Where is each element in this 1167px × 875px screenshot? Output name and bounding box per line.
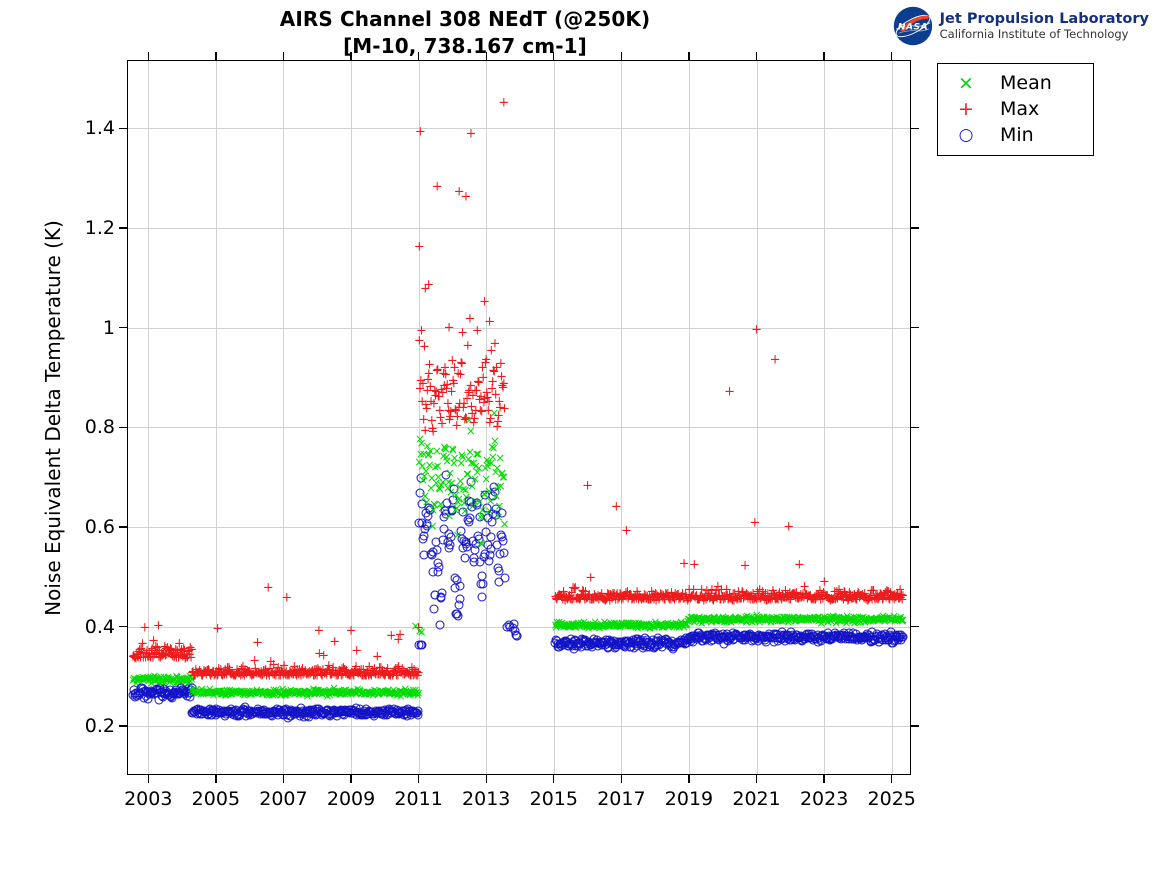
data-point-max: + [862, 594, 873, 607]
data-point-mean: × [344, 687, 354, 699]
data-point-mean: × [607, 618, 617, 630]
data-point-mean: × [171, 677, 181, 689]
data-point-mean: × [469, 495, 479, 507]
data-point-max: + [314, 647, 325, 660]
data-point-max: + [466, 401, 477, 414]
data-point-mean: × [750, 615, 760, 627]
data-point-max: + [651, 588, 662, 601]
data-point-max: + [862, 592, 873, 605]
data-point-min [643, 635, 652, 644]
data-point-min [185, 689, 194, 698]
data-point-max: + [607, 592, 618, 605]
data-point-max: + [344, 670, 355, 683]
data-point-min [466, 477, 475, 486]
data-point-max: + [307, 665, 318, 678]
data-point-min [886, 632, 895, 641]
data-point-min [814, 637, 823, 646]
data-point-max: + [792, 591, 803, 604]
data-point-mean: × [217, 685, 227, 697]
data-point-max: + [465, 313, 476, 326]
data-point-mean: × [749, 614, 759, 626]
data-point-max: + [258, 664, 269, 677]
data-point-mean: × [596, 618, 606, 630]
data-point-mean: × [564, 619, 574, 631]
data-point-mean: × [639, 619, 649, 631]
data-point-min [503, 623, 512, 632]
data-point-mean: × [578, 619, 588, 631]
data-point-mean: × [430, 461, 440, 473]
data-point-min [826, 634, 835, 643]
data-point-min [579, 636, 588, 645]
data-point-min [711, 633, 720, 642]
data-point-min [641, 634, 650, 643]
data-point-min [796, 633, 805, 642]
data-point-max: + [285, 667, 296, 680]
data-point-min [648, 638, 657, 647]
data-point-min [219, 707, 228, 716]
data-point-min [840, 628, 849, 637]
data-point-mean: × [380, 687, 390, 699]
data-point-max: + [715, 594, 726, 607]
data-point-mean: × [450, 452, 460, 464]
data-point-max: + [468, 416, 479, 429]
data-point-mean: × [368, 689, 378, 701]
data-point-max: + [387, 668, 398, 681]
data-point-max: + [757, 586, 768, 599]
data-point-mean: × [705, 614, 715, 626]
data-point-min [415, 518, 424, 527]
data-point-min [227, 709, 236, 718]
data-point-max: + [700, 589, 711, 602]
data-point-max: + [765, 593, 776, 606]
data-point-max: + [560, 594, 571, 607]
data-point-min [616, 638, 625, 647]
data-point-min [756, 632, 765, 641]
data-point-min [588, 639, 597, 648]
data-point-min [837, 632, 846, 641]
data-point-min [892, 631, 901, 640]
data-point-max: + [572, 592, 583, 605]
data-point-mean: × [290, 685, 300, 697]
data-point-min [448, 506, 457, 515]
data-point-mean: × [416, 448, 426, 460]
data-point-max: + [272, 665, 283, 678]
data-point-max: + [466, 128, 477, 141]
data-point-min [176, 688, 185, 697]
data-point-mean: × [859, 614, 869, 626]
data-point-min [204, 710, 213, 719]
data-point-mean: × [286, 686, 296, 698]
data-point-min [138, 685, 147, 694]
data-point-min [285, 707, 294, 716]
data-point-max: + [277, 667, 288, 680]
data-point-max: + [648, 593, 659, 606]
data-point-max: + [794, 558, 805, 571]
data-point-min [202, 707, 211, 716]
data-point-min [691, 633, 700, 642]
data-point-max: + [177, 650, 188, 663]
data-point-min [215, 705, 224, 714]
data-point-max: + [445, 405, 456, 418]
data-point-mean: × [565, 621, 575, 633]
data-point-min [619, 640, 628, 649]
data-point-min [599, 638, 608, 647]
data-point-mean: × [860, 612, 870, 624]
data-point-max: + [821, 590, 832, 603]
data-point-max: + [342, 669, 353, 682]
data-point-max: + [638, 592, 649, 605]
logo-lab-name: Jet Propulsion Laboratory [940, 11, 1149, 27]
data-point-max: + [738, 592, 749, 605]
data-point-max: + [362, 666, 373, 679]
data-point-min [593, 635, 602, 644]
data-point-mean: × [304, 685, 314, 697]
data-point-mean: × [766, 616, 776, 628]
data-point-max: + [212, 623, 223, 636]
data-point-max: + [249, 654, 260, 667]
data-point-mean: × [630, 618, 640, 630]
data-point-min [132, 692, 141, 701]
data-point-max: + [788, 588, 799, 601]
y-axis-tick-label: 1.4 [85, 117, 115, 139]
data-point-max: + [263, 667, 274, 680]
data-point-max: + [599, 594, 610, 607]
data-point-max: + [204, 664, 215, 677]
data-point-mean: × [385, 688, 395, 700]
data-point-mean: × [575, 619, 585, 631]
data-point-max: + [847, 593, 858, 606]
data-point-mean: × [463, 453, 473, 465]
data-point-mean: × [815, 613, 825, 625]
data-point-min [323, 705, 332, 714]
data-point-min [779, 631, 788, 640]
data-point-max: + [376, 662, 387, 675]
data-point-min [331, 708, 340, 717]
data-point-min [314, 708, 323, 717]
data-point-max: + [745, 593, 756, 606]
data-point-mean: × [579, 616, 589, 628]
data-point-max: + [609, 587, 620, 600]
data-point-min [690, 633, 699, 642]
data-point-mean: × [455, 481, 465, 493]
data-point-mean: × [806, 613, 816, 625]
data-point-min [785, 632, 794, 641]
data-point-max: + [195, 667, 206, 680]
data-point-mean: × [808, 613, 818, 625]
data-point-min [668, 642, 677, 651]
data-point-max: + [603, 588, 614, 601]
data-point-mean: × [413, 689, 423, 701]
data-point-min [293, 707, 302, 716]
data-point-min [679, 638, 688, 647]
data-point-max: + [726, 592, 737, 605]
data-point-min [449, 484, 458, 493]
data-point-min [777, 634, 786, 643]
data-point-mean: × [244, 685, 254, 697]
data-point-min [797, 636, 806, 645]
data-point-max: + [559, 590, 570, 603]
data-point-min [687, 637, 696, 646]
data-point-max: + [169, 649, 180, 662]
data-point-min [623, 637, 632, 646]
data-point-mean: × [265, 686, 275, 698]
data-point-min [260, 705, 269, 714]
data-point-mean: × [595, 622, 605, 634]
data-point-max: + [299, 666, 310, 679]
data-point-mean: × [129, 672, 139, 684]
data-point-max: + [654, 593, 665, 606]
x-axis-tick [553, 774, 554, 783]
data-point-mean: × [728, 613, 738, 625]
data-point-min [567, 641, 576, 650]
x-axis-tick [486, 52, 487, 61]
data-point-max: + [354, 666, 365, 679]
data-point-min [746, 629, 755, 638]
data-point-mean: × [272, 686, 282, 698]
data-point-min [639, 641, 648, 650]
data-point-mean: × [357, 687, 367, 699]
data-point-mean: × [877, 613, 887, 625]
data-point-min [463, 515, 472, 524]
data-point-mean: × [439, 450, 449, 462]
data-point-mean: × [814, 611, 824, 623]
data-point-mean: × [816, 614, 826, 626]
data-point-max: + [220, 663, 231, 676]
data-point-min [332, 708, 341, 717]
legend-item-min: ○ Min [946, 122, 1085, 148]
data-point-min [345, 706, 354, 715]
data-point-min [347, 709, 356, 718]
data-point-max: + [743, 592, 754, 605]
data-point-max: + [284, 670, 295, 683]
data-point-mean: × [185, 675, 195, 687]
data-point-min [613, 638, 622, 647]
data-point-mean: × [572, 619, 582, 631]
data-point-mean: × [811, 612, 821, 624]
data-point-mean: × [733, 614, 743, 626]
data-point-min [218, 709, 227, 718]
data-point-min [769, 637, 778, 646]
data-point-min [241, 711, 250, 720]
data-point-min [757, 631, 766, 640]
data-point-max: + [617, 590, 628, 603]
data-point-min [298, 708, 307, 717]
data-point-mean: × [197, 683, 207, 695]
data-point-max: + [841, 591, 852, 604]
data-point-min [476, 557, 485, 566]
data-point-mean: × [719, 616, 729, 628]
data-point-mean: × [885, 611, 895, 623]
data-point-min [880, 633, 889, 642]
data-point-max: + [175, 650, 186, 663]
data-point-min [396, 709, 405, 718]
data-point-mean: × [697, 617, 707, 629]
data-point-mean: × [235, 686, 245, 698]
data-point-max: + [237, 660, 248, 673]
data-point-mean: × [482, 454, 492, 466]
data-point-min [457, 527, 466, 536]
data-point-mean: × [256, 685, 266, 697]
data-point-mean: × [558, 619, 568, 631]
data-point-mean: × [150, 675, 160, 687]
data-point-min [782, 632, 791, 641]
data-point-mean: × [151, 674, 161, 686]
data-point-min [155, 684, 164, 693]
data-point-max: + [467, 390, 478, 403]
data-point-max: + [842, 594, 853, 607]
data-point-max: + [669, 593, 680, 606]
data-point-min [316, 709, 325, 718]
data-point-mean: × [813, 615, 823, 627]
data-point-mean: × [347, 686, 357, 698]
data-point-max: + [735, 592, 746, 605]
data-point-max: + [434, 391, 445, 404]
data-point-mean: × [682, 618, 692, 630]
data-point-min [506, 622, 515, 631]
data-point-max: + [395, 629, 406, 642]
data-point-mean: × [451, 489, 461, 501]
data-point-min [373, 709, 382, 718]
data-point-min [625, 638, 634, 647]
data-point-min [851, 633, 860, 642]
data-point-min [208, 705, 217, 714]
data-point-min [764, 630, 773, 639]
data-point-mean: × [877, 611, 887, 623]
data-point-min [871, 632, 880, 641]
data-point-mean: × [415, 433, 425, 445]
data-point-max: + [725, 592, 736, 605]
data-point-min [729, 628, 738, 637]
data-point-max: + [657, 589, 668, 602]
data-point-max: + [875, 587, 886, 600]
data-point-min [143, 687, 152, 696]
data-point-min [438, 588, 447, 597]
data-point-max: + [459, 414, 470, 427]
data-point-max: + [141, 648, 152, 661]
data-point-max: + [490, 338, 501, 351]
data-point-min [772, 631, 781, 640]
data-point-mean: × [170, 674, 180, 686]
data-point-max: + [869, 591, 880, 604]
data-point-min [423, 520, 432, 529]
data-point-min [678, 638, 687, 647]
data-point-max: + [423, 373, 434, 386]
data-point-min [363, 709, 372, 718]
data-point-mean: × [590, 616, 600, 628]
data-point-min [580, 635, 589, 644]
data-point-min [866, 637, 875, 646]
data-point-min [320, 709, 329, 718]
data-point-max: + [640, 590, 651, 603]
data-point-mean: × [209, 686, 219, 698]
data-point-mean: × [271, 684, 281, 696]
data-point-max: + [856, 589, 867, 602]
data-point-min [694, 629, 703, 638]
data-point-min [741, 636, 750, 645]
data-point-mean: × [331, 687, 341, 699]
data-point-mean: × [757, 612, 767, 624]
data-point-min [354, 708, 363, 717]
data-point-min [411, 709, 420, 718]
data-point-mean: × [864, 613, 874, 625]
x-axis-tick [486, 774, 487, 783]
data-point-max: + [153, 645, 164, 658]
data-point-max: + [643, 594, 654, 607]
data-point-min [459, 544, 468, 553]
data-point-mean: × [269, 684, 279, 696]
data-point-mean: × [863, 614, 873, 626]
data-point-max: + [433, 390, 444, 403]
data-point-max: + [853, 588, 864, 601]
data-point-min [265, 707, 274, 716]
data-point-max: + [398, 664, 409, 677]
data-point-max: + [172, 647, 183, 660]
data-point-mean: × [190, 685, 200, 697]
data-point-max: + [554, 589, 565, 602]
data-point-max: + [878, 592, 889, 605]
data-point-mean: × [421, 465, 431, 477]
data-point-mean: × [835, 612, 845, 624]
data-point-max: + [356, 663, 367, 676]
data-point-max: + [193, 667, 204, 680]
data-point-min [458, 508, 467, 517]
data-point-min [252, 708, 261, 717]
data-point-mean: × [435, 483, 445, 495]
data-point-min [790, 635, 799, 644]
data-point-mean: × [187, 685, 197, 697]
data-point-mean: × [711, 615, 721, 627]
data-point-max: + [194, 665, 205, 678]
data-point-mean: × [262, 689, 272, 701]
data-point-min [237, 707, 246, 716]
data-point-max: + [471, 385, 482, 398]
data-point-min [610, 636, 619, 645]
data-point-mean: × [366, 687, 376, 699]
data-point-mean: × [319, 686, 329, 698]
data-point-min [270, 706, 279, 715]
data-point-mean: × [462, 468, 472, 480]
data-point-max: + [339, 664, 350, 677]
data-point-max: + [854, 591, 865, 604]
data-point-max: + [704, 587, 715, 600]
data-point-min [282, 711, 291, 720]
data-point-max: + [367, 665, 378, 678]
data-point-mean: × [774, 614, 784, 626]
data-point-mean: × [365, 687, 375, 699]
data-point-mean: × [211, 686, 221, 698]
data-point-min [688, 638, 697, 647]
data-point-min [771, 630, 780, 639]
data-point-mean: × [822, 613, 832, 625]
data-point-mean: × [228, 686, 238, 698]
data-point-min [243, 706, 252, 715]
data-point-min [177, 688, 186, 697]
data-point-max: + [389, 664, 400, 677]
data-point-max: + [621, 586, 632, 599]
data-point-mean: × [350, 686, 360, 698]
data-point-mean: × [747, 611, 757, 623]
data-point-mean: × [624, 617, 634, 629]
data-point-max: + [604, 588, 615, 601]
data-point-min [249, 707, 258, 716]
data-point-min [826, 633, 835, 642]
data-point-mean: × [152, 674, 162, 686]
data-point-max: + [390, 662, 401, 675]
data-point-mean: × [743, 613, 753, 625]
data-point-mean: × [571, 621, 581, 633]
data-point-max: + [429, 384, 440, 397]
data-point-mean: × [226, 688, 236, 700]
